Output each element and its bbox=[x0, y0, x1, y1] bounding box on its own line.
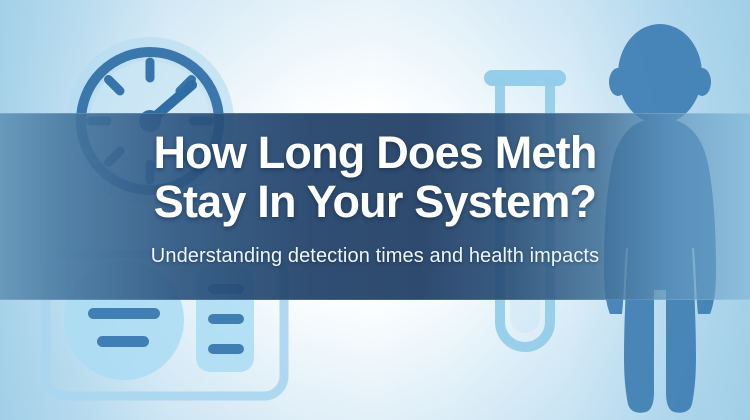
page-title-line-1: How Long Does Meth bbox=[153, 127, 596, 178]
headline-block: How Long Does Meth Stay In Your System? … bbox=[0, 113, 750, 300]
page-title: How Long Does Meth Stay In Your System? bbox=[153, 128, 596, 226]
page-subtitle: Understanding detection times and health… bbox=[151, 244, 599, 268]
hero-banner: How Long Does Meth Stay In Your System? … bbox=[0, 0, 750, 420]
page-title-line-2: Stay In Your System? bbox=[154, 176, 596, 227]
